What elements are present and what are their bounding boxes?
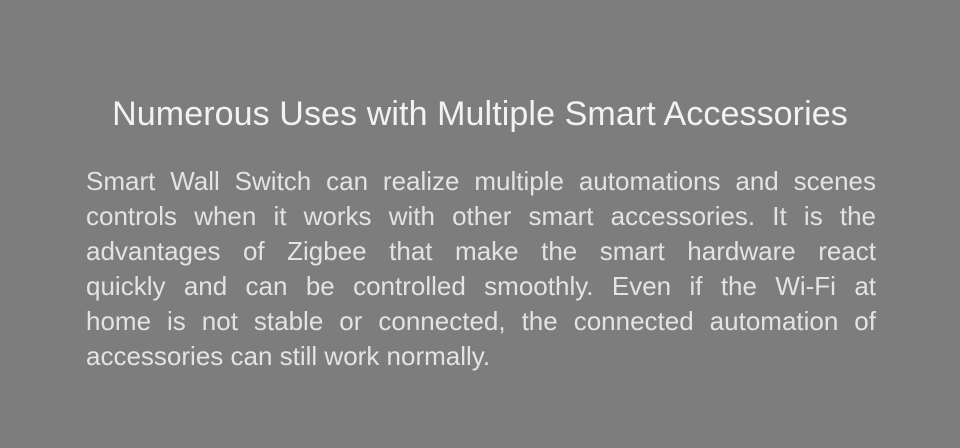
promo-banner: Numerous Uses with Multiple Smart Access… — [0, 0, 960, 448]
description-paragraph: Smart Wall Switch can realize multiple a… — [86, 164, 876, 374]
paragraph-line: advantages of Zigbee that make the smart… — [86, 234, 876, 269]
paragraph-line: home is not stable or connected, the con… — [86, 304, 876, 339]
page-title: Numerous Uses with Multiple Smart Access… — [0, 92, 960, 136]
paragraph-line: accessories can still work normally. — [86, 339, 876, 374]
paragraph-line: quickly and can be controlled smoothly. … — [86, 269, 876, 304]
paragraph-line: Smart Wall Switch can realize multiple a… — [86, 164, 876, 199]
paragraph-line: controls when it works with other smart … — [86, 199, 876, 234]
